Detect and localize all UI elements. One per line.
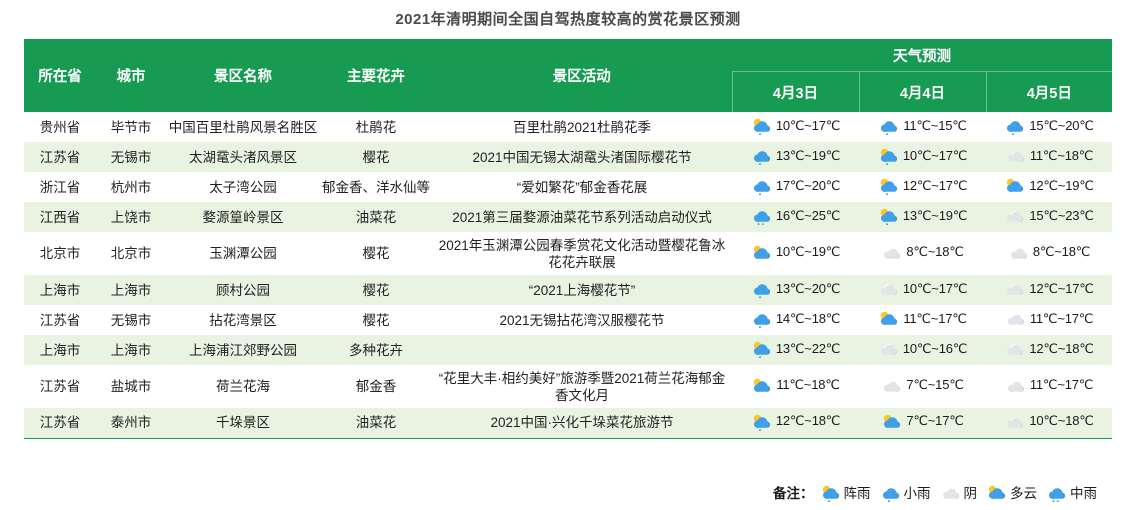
col-header-province: 所在省 xyxy=(24,39,96,112)
cell-scenic-name: 荷兰花海 xyxy=(166,365,320,408)
cell-scenic-activity: 2021第三届婺源油菜花节系列活动启动仪式 xyxy=(432,202,732,232)
cell-scenic-activity: 2021年玉渊潭公园春季赏花文化活动暨樱花鲁冰花花卉联展 xyxy=(432,232,732,275)
weather-cell-day-3: 12℃~17℃ xyxy=(986,275,1112,305)
cell-scenic-name: 婺源篁岭景区 xyxy=(166,202,320,232)
overcast-icon xyxy=(1004,340,1026,358)
cell-city: 杭州市 xyxy=(96,172,166,202)
temperature-range: 11℃~17℃ xyxy=(1030,310,1093,327)
temperature-range: 10℃~17℃ xyxy=(776,117,840,134)
moderate-rain-icon xyxy=(1046,484,1068,502)
legend-item: 阴 xyxy=(940,482,978,502)
cloudy-icon xyxy=(878,310,900,328)
weather-cell-day-2: 13℃~19℃ xyxy=(859,202,986,232)
cell-city: 上饶市 xyxy=(96,202,166,232)
light-rain-icon xyxy=(880,484,902,502)
temperature-range: 11℃~15℃ xyxy=(903,117,966,134)
shower-icon xyxy=(820,484,842,502)
scenic-weather-table: 所在省 城市 景区名称 主要花卉 景区活动 天气预测 4月3日 4月4日 4月5… xyxy=(24,39,1112,439)
temperature-range: 10℃~17℃ xyxy=(903,147,967,164)
legend-item: 小雨 xyxy=(880,482,931,502)
table-row: 江西省上饶市婺源篁岭景区油菜花2021第三届婺源油菜花节系列活动启动仪式16℃~… xyxy=(24,202,1112,232)
cell-scenic-activity: 2021无锡拈花湾汉服樱花节 xyxy=(432,305,732,335)
col-header-day-1: 4月3日 xyxy=(732,72,859,113)
table-row: 浙江省杭州市太子湾公园郁金香、洋水仙等“爱如繁花”郁金香花展17℃~20℃12℃… xyxy=(24,172,1112,202)
temperature-range: 13℃~19℃ xyxy=(903,207,967,224)
table-row: 北京市北京市玉渊潭公园樱花2021年玉渊潭公园春季赏花文化活动暨樱花鲁冰花花卉联… xyxy=(24,232,1112,275)
cell-province: 上海市 xyxy=(24,335,96,365)
light-rain-icon xyxy=(751,310,773,328)
cell-city: 无锡市 xyxy=(96,142,166,172)
temperature-range: 13℃~22℃ xyxy=(776,340,840,357)
overcast-icon xyxy=(878,340,900,358)
cloudy-icon xyxy=(1004,177,1026,195)
cell-city: 盐城市 xyxy=(96,365,166,408)
light-rain-icon xyxy=(751,280,773,298)
weather-cell-day-1: 13℃~22℃ xyxy=(732,335,859,365)
weather-cell-day-1: 12℃~18℃ xyxy=(732,408,859,438)
col-header-scenic-name: 景区名称 xyxy=(166,39,320,112)
cell-scenic-activity: 百里杜鹃2021杜鹃花季 xyxy=(432,112,732,142)
legend-item-label: 多云 xyxy=(1010,482,1037,502)
cell-province: 江苏省 xyxy=(24,142,96,172)
legend-item-label: 中雨 xyxy=(1070,482,1097,502)
temperature-range: 14℃~18℃ xyxy=(776,310,840,327)
cell-main-flower: 多种花卉 xyxy=(320,335,432,365)
temperature-range: 10℃~17℃ xyxy=(903,280,967,297)
temperature-range: 11℃~18℃ xyxy=(776,376,839,393)
weather-cell-day-1: 16℃~25℃ xyxy=(732,202,859,232)
cell-city: 泰州市 xyxy=(96,408,166,438)
overcast-icon xyxy=(1004,280,1026,298)
cell-main-flower: 樱花 xyxy=(320,232,432,275)
cell-main-flower: 杜鹃花 xyxy=(320,112,432,142)
weather-cell-day-1: 10℃~19℃ xyxy=(732,232,859,275)
temperature-range: 11℃~17℃ xyxy=(903,310,966,327)
overcast-icon xyxy=(1005,147,1027,165)
cell-main-flower: 樱花 xyxy=(320,275,432,305)
weather-cell-day-2: 11℃~15℃ xyxy=(859,112,986,142)
cell-main-flower: 郁金香 xyxy=(320,365,432,408)
cell-scenic-name: 太湖鼋头渚风景区 xyxy=(166,142,320,172)
weather-cell-day-3: 8℃~18℃ xyxy=(986,232,1112,275)
overcast-icon xyxy=(1004,413,1026,431)
page-title: 2021年清明期间全国自驾热度较高的赏花景区预测 xyxy=(0,0,1136,30)
cloudy-icon xyxy=(751,377,773,395)
weather-cell-day-3: 11℃~17℃ xyxy=(986,365,1112,408)
cell-city: 北京市 xyxy=(96,232,166,275)
temperature-range: 16℃~25℃ xyxy=(776,207,840,224)
overcast-icon xyxy=(1005,377,1027,395)
cell-province: 北京市 xyxy=(24,232,96,275)
weather-cell-day-3: 11℃~18℃ xyxy=(986,142,1112,172)
overcast-icon xyxy=(881,377,903,395)
cloudy-icon xyxy=(881,413,903,431)
col-header-city: 城市 xyxy=(96,39,166,112)
shower-icon xyxy=(751,340,773,358)
legend-item-label: 小雨 xyxy=(904,482,931,502)
weather-cell-day-2: 8℃~18℃ xyxy=(859,232,986,275)
temperature-range: 10℃~19℃ xyxy=(776,243,840,260)
weather-cell-day-2: 10℃~16℃ xyxy=(859,335,986,365)
moderate-rain-icon xyxy=(751,207,773,225)
weather-cell-day-3: 10℃~18℃ xyxy=(986,408,1112,438)
temperature-range: 12℃~18℃ xyxy=(776,412,840,429)
weather-cell-day-3: 12℃~19℃ xyxy=(986,172,1112,202)
temperature-range: 7℃~15℃ xyxy=(906,376,963,393)
cell-main-flower: 油菜花 xyxy=(320,408,432,438)
cell-province: 江西省 xyxy=(24,202,96,232)
col-header-main-flower: 主要花卉 xyxy=(320,39,432,112)
cell-scenic-activity: “花里大丰·相约美好”旅游季暨2021荷兰花海郁金香文化月 xyxy=(432,365,732,408)
cell-province: 上海市 xyxy=(24,275,96,305)
shower-icon xyxy=(751,413,773,431)
cell-scenic-name: 玉渊潭公园 xyxy=(166,232,320,275)
table-row: 江苏省无锡市太湖鼋头渚风景区樱花2021中国无锡太湖鼋头渚国际樱花节13℃~19… xyxy=(24,142,1112,172)
light-rain-icon xyxy=(1004,117,1026,135)
cell-scenic-name: 拈花湾景区 xyxy=(166,305,320,335)
cell-province: 贵州省 xyxy=(24,112,96,142)
cell-main-flower: 郁金香、洋水仙等 xyxy=(320,172,432,202)
weather-cell-day-3: 11℃~17℃ xyxy=(986,305,1112,335)
legend-label: 备注： xyxy=(773,482,814,502)
light-rain-icon xyxy=(878,117,900,135)
weather-cell-day-2: 10℃~17℃ xyxy=(859,142,986,172)
temperature-range: 12℃~19℃ xyxy=(1029,177,1093,194)
weather-cell-day-2: 12℃~17℃ xyxy=(859,172,986,202)
weather-cell-day-1: 13℃~20℃ xyxy=(732,275,859,305)
table-row: 江苏省盐城市荷兰花海郁金香“花里大丰·相约美好”旅游季暨2021荷兰花海郁金香文… xyxy=(24,365,1112,408)
table-row: 江苏省泰州市千垛景区油菜花2021中国·兴化千垛菜花旅游节12℃~18℃7℃~1… xyxy=(24,408,1112,438)
overcast-icon xyxy=(1005,310,1027,328)
shower-icon xyxy=(878,207,900,225)
weather-cell-day-2: 7℃~15℃ xyxy=(859,365,986,408)
cell-main-flower: 樱花 xyxy=(320,142,432,172)
overcast-icon xyxy=(1008,244,1030,262)
weather-cell-day-1: 10℃~17℃ xyxy=(732,112,859,142)
temperature-range: 12℃~17℃ xyxy=(903,177,967,194)
cell-province: 江苏省 xyxy=(24,408,96,438)
cell-scenic-name: 顾村公园 xyxy=(166,275,320,305)
weather-cell-day-1: 13℃~19℃ xyxy=(732,142,859,172)
temperature-range: 15℃~23℃ xyxy=(1029,207,1093,224)
cell-province: 江苏省 xyxy=(24,365,96,408)
temperature-range: 10℃~18℃ xyxy=(1029,412,1093,429)
col-header-weather-group: 天气预测 xyxy=(732,39,1112,72)
weather-forecast-page: 2021年清明期间全国自驾热度较高的赏花景区预测 所在省 城市 景区名称 主要花… xyxy=(0,0,1136,510)
cell-main-flower: 樱花 xyxy=(320,305,432,335)
cell-city: 上海市 xyxy=(96,335,166,365)
temperature-range: 12℃~18℃ xyxy=(1029,340,1093,357)
temperature-range: 11℃~18℃ xyxy=(1030,147,1093,164)
legend-item: 多云 xyxy=(986,482,1037,502)
table-row: 上海市上海市上海浦江郊野公园多种花卉13℃~22℃10℃~16℃12℃~18℃ xyxy=(24,335,1112,365)
overcast-icon xyxy=(878,280,900,298)
cell-scenic-name: 上海浦江郊野公园 xyxy=(166,335,320,365)
weather-cell-day-3: 15℃~20℃ xyxy=(986,112,1112,142)
table-body: 贵州省毕节市中国百里杜鹃风景名胜区杜鹃花百里杜鹃2021杜鹃花季10℃~17℃1… xyxy=(24,112,1112,438)
temperature-range: 8℃~18℃ xyxy=(906,243,963,260)
temperature-range: 13℃~19℃ xyxy=(776,147,840,164)
cell-scenic-activity: “爱如繁花”郁金香花展 xyxy=(432,172,732,202)
table-row: 贵州省毕节市中国百里杜鹃风景名胜区杜鹃花百里杜鹃2021杜鹃花季10℃~17℃1… xyxy=(24,112,1112,142)
weather-legend: 备注： 阵雨小雨阴多云中雨 xyxy=(773,482,1106,502)
cell-scenic-name: 中国百里杜鹃风景名胜区 xyxy=(166,112,320,142)
table-row: 上海市上海市顾村公园樱花“2021上海樱花节”13℃~20℃10℃~17℃12℃… xyxy=(24,275,1112,305)
cell-scenic-activity xyxy=(432,335,732,365)
cell-province: 江苏省 xyxy=(24,305,96,335)
table-head: 所在省 城市 景区名称 主要花卉 景区活动 天气预测 4月3日 4月4日 4月5… xyxy=(24,39,1112,112)
cell-main-flower: 油菜花 xyxy=(320,202,432,232)
temperature-range: 10℃~16℃ xyxy=(903,340,967,357)
temperature-range: 11℃~17℃ xyxy=(1030,376,1093,393)
shower-icon xyxy=(878,177,900,195)
weather-cell-day-1: 11℃~18℃ xyxy=(732,365,859,408)
overcast-icon xyxy=(940,484,962,502)
cell-city: 上海市 xyxy=(96,275,166,305)
weather-cell-day-2: 10℃~17℃ xyxy=(859,275,986,305)
table-row: 江苏省无锡市拈花湾景区樱花2021无锡拈花湾汉服樱花节14℃~18℃11℃~17… xyxy=(24,305,1112,335)
temperature-range: 7℃~17℃ xyxy=(906,412,963,429)
shower-icon xyxy=(878,147,900,165)
cell-province: 浙江省 xyxy=(24,172,96,202)
col-header-day-3: 4月5日 xyxy=(986,72,1112,113)
light-rain-icon xyxy=(751,177,773,195)
overcast-icon xyxy=(881,244,903,262)
temperature-range: 13℃~20℃ xyxy=(776,280,840,297)
legend-item: 中雨 xyxy=(1046,482,1097,502)
weather-cell-day-3: 12℃~18℃ xyxy=(986,335,1112,365)
cell-scenic-name: 太子湾公园 xyxy=(166,172,320,202)
shower-icon xyxy=(751,117,773,135)
weather-cell-day-3: 15℃~23℃ xyxy=(986,202,1112,232)
legend-item: 阵雨 xyxy=(820,482,871,502)
cell-scenic-activity: 2021中国无锡太湖鼋头渚国际樱花节 xyxy=(432,142,732,172)
weather-cell-day-2: 11℃~17℃ xyxy=(859,305,986,335)
legend-item-label: 阴 xyxy=(964,482,978,502)
legend-items: 阵雨小雨阴多云中雨 xyxy=(820,482,1107,502)
temperature-range: 15℃~20℃ xyxy=(1029,117,1093,134)
temperature-range: 8℃~18℃ xyxy=(1033,243,1090,260)
weather-cell-day-1: 14℃~18℃ xyxy=(732,305,859,335)
weather-cell-day-2: 7℃~17℃ xyxy=(859,408,986,438)
header-row-1: 所在省 城市 景区名称 主要花卉 景区活动 天气预测 xyxy=(24,39,1112,72)
cloudy-icon xyxy=(751,244,773,262)
cell-city: 无锡市 xyxy=(96,305,166,335)
cell-city: 毕节市 xyxy=(96,112,166,142)
cell-scenic-activity: 2021中国·兴化千垛菜花旅游节 xyxy=(432,408,732,438)
overcast-icon xyxy=(1004,207,1026,225)
temperature-range: 12℃~17℃ xyxy=(1029,280,1093,297)
temperature-range: 17℃~20℃ xyxy=(776,177,840,194)
cell-scenic-name: 千垛景区 xyxy=(166,408,320,438)
col-header-scenic-activity: 景区活动 xyxy=(432,39,732,112)
col-header-day-2: 4月4日 xyxy=(859,72,986,113)
weather-cell-day-1: 17℃~20℃ xyxy=(732,172,859,202)
legend-item-label: 阵雨 xyxy=(844,482,871,502)
cloudy-icon xyxy=(986,484,1008,502)
light-rain-icon xyxy=(751,147,773,165)
cell-scenic-activity: “2021上海樱花节” xyxy=(432,275,732,305)
